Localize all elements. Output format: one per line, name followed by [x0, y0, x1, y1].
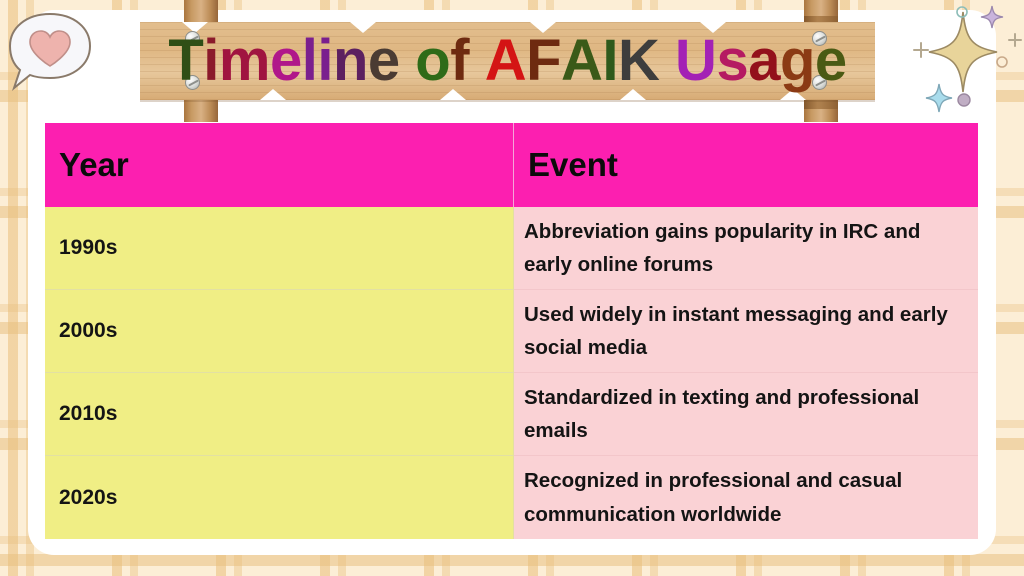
title-letter: l	[302, 32, 318, 90]
title-letter: A	[561, 32, 602, 90]
title-letter: A	[485, 32, 526, 90]
title-letter: n	[333, 32, 368, 90]
cell-event: Recognized in professional and casual co…	[514, 456, 978, 539]
timeline-table: Year Event 1990s Abbreviation gains popu…	[45, 123, 978, 539]
table-header-row: Year Event	[45, 123, 978, 207]
title-letter: U	[675, 32, 716, 90]
title-letter: e	[368, 32, 400, 90]
cell-year: 2010s	[45, 373, 514, 456]
title-letter: m	[219, 32, 270, 90]
table-row: 2020s Recognized in professional and cas…	[45, 456, 978, 539]
column-header-event: Event	[514, 123, 978, 207]
table-row: 1990s Abbreviation gains popularity in I…	[45, 207, 978, 290]
circle-dot-purple-icon	[958, 94, 970, 106]
page-title: Timeline of AFAIK Usage	[140, 22, 875, 100]
speech-bubble-heart-icon	[4, 8, 96, 94]
wooden-sign: Timeline of AFAIK Usage	[140, 0, 900, 125]
slide-canvas: Timeline of AFAIK Usage Year Event 1990s…	[0, 0, 1024, 576]
cell-year: 2020s	[45, 456, 514, 539]
cell-year: 1990s	[45, 207, 514, 290]
title-letter: o	[415, 32, 450, 90]
title-letter: s	[716, 32, 748, 90]
title-letter: e	[815, 32, 847, 90]
table-row: 2010s Standardized in texting and profes…	[45, 373, 978, 456]
sparkle-star-small-blue-icon	[926, 84, 952, 112]
title-letter	[400, 32, 416, 90]
title-letter: e	[270, 32, 302, 90]
title-letter: K	[618, 32, 659, 90]
title-letter: g	[780, 32, 815, 90]
cell-year: 2000s	[45, 290, 514, 373]
cell-event: Standardized in texting and professional…	[514, 373, 978, 456]
title-letter	[659, 32, 675, 90]
sparkle-star-large-icon	[929, 12, 997, 92]
column-header-year: Year	[45, 123, 514, 207]
table-row: 2000s Used widely in instant messaging a…	[45, 290, 978, 373]
title-letter: i	[317, 32, 333, 90]
sparkle-diamond-purple-icon	[981, 6, 1003, 28]
title-letter: a	[748, 32, 780, 90]
title-letter: T	[168, 32, 203, 90]
sparkle-decoration-group	[896, 0, 1024, 120]
cell-event: Abbreviation gains popularity in IRC and…	[514, 207, 978, 290]
title-letter: f	[450, 32, 469, 90]
cell-event: Used widely in instant messaging and ear…	[514, 290, 978, 373]
title-letter	[469, 32, 485, 90]
title-letter: i	[203, 32, 219, 90]
title-letter: F	[526, 32, 561, 90]
title-letter: I	[602, 32, 618, 90]
circle-dot-outline-icon	[997, 57, 1007, 67]
